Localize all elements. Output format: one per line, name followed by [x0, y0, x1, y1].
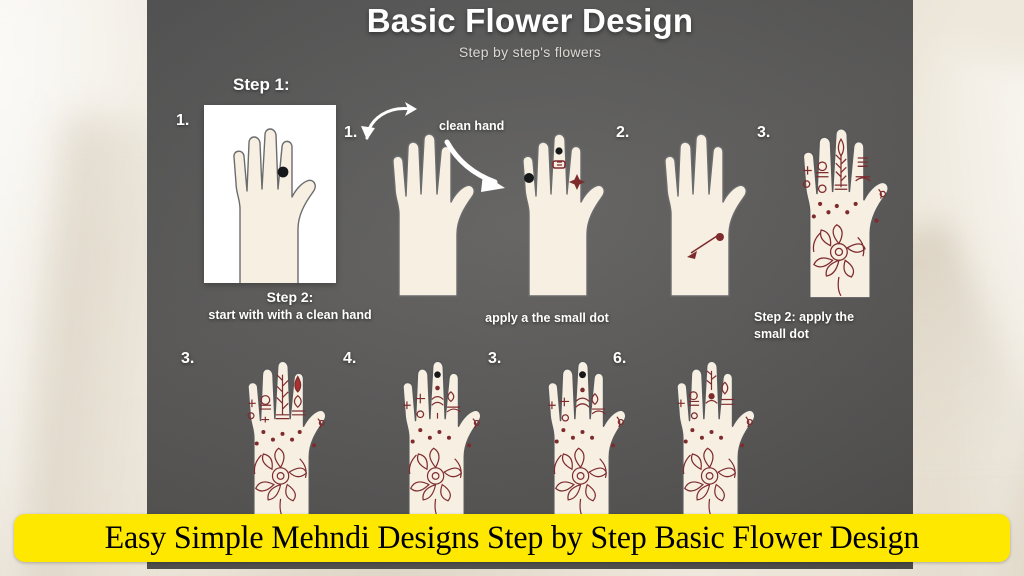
hand-illustration-palm-arrow: [637, 118, 765, 298]
caption-banner: Easy Simple Mehndi Designs Step by Step …: [14, 514, 1010, 562]
step-1-label: Step 1:: [233, 75, 290, 95]
item-number-top-0: 1.: [176, 112, 189, 130]
caption-step2-dot: Step 2: apply the small dot: [754, 309, 884, 343]
hand-illustration-dotted: [495, 118, 623, 298]
rotate-arrow-icon: [355, 98, 425, 149]
hand-illustration-henna-2: [365, 346, 510, 518]
hand-illustration-plain-dot: [210, 113, 330, 283]
item-number-bottom-0: 3.: [181, 350, 194, 368]
fingertip-dot: [524, 173, 534, 183]
hand-illustration-henna-3: [510, 346, 655, 518]
small-dot-mark: [278, 167, 289, 178]
hand-illustration-henna-small: [775, 112, 907, 300]
fingertip-dot: [555, 147, 562, 154]
hand-illustration-henna-4: [639, 346, 784, 518]
step-1-white-card: [204, 105, 336, 283]
poster-subtitle: Step by step's flowers: [147, 44, 913, 60]
hand-illustration-henna-1: [210, 346, 355, 518]
poster-title: Basic Flower Design: [147, 2, 913, 40]
tutorial-poster: Basic Flower Design Step by step's flowe…: [147, 0, 913, 569]
caption-banner-text: Easy Simple Mehndi Designs Step by Step …: [105, 520, 920, 557]
caption-small-dot: apply a the small dot: [447, 310, 647, 327]
caption-step2-clean: Step 2: start with with a clean hand: [175, 288, 405, 324]
